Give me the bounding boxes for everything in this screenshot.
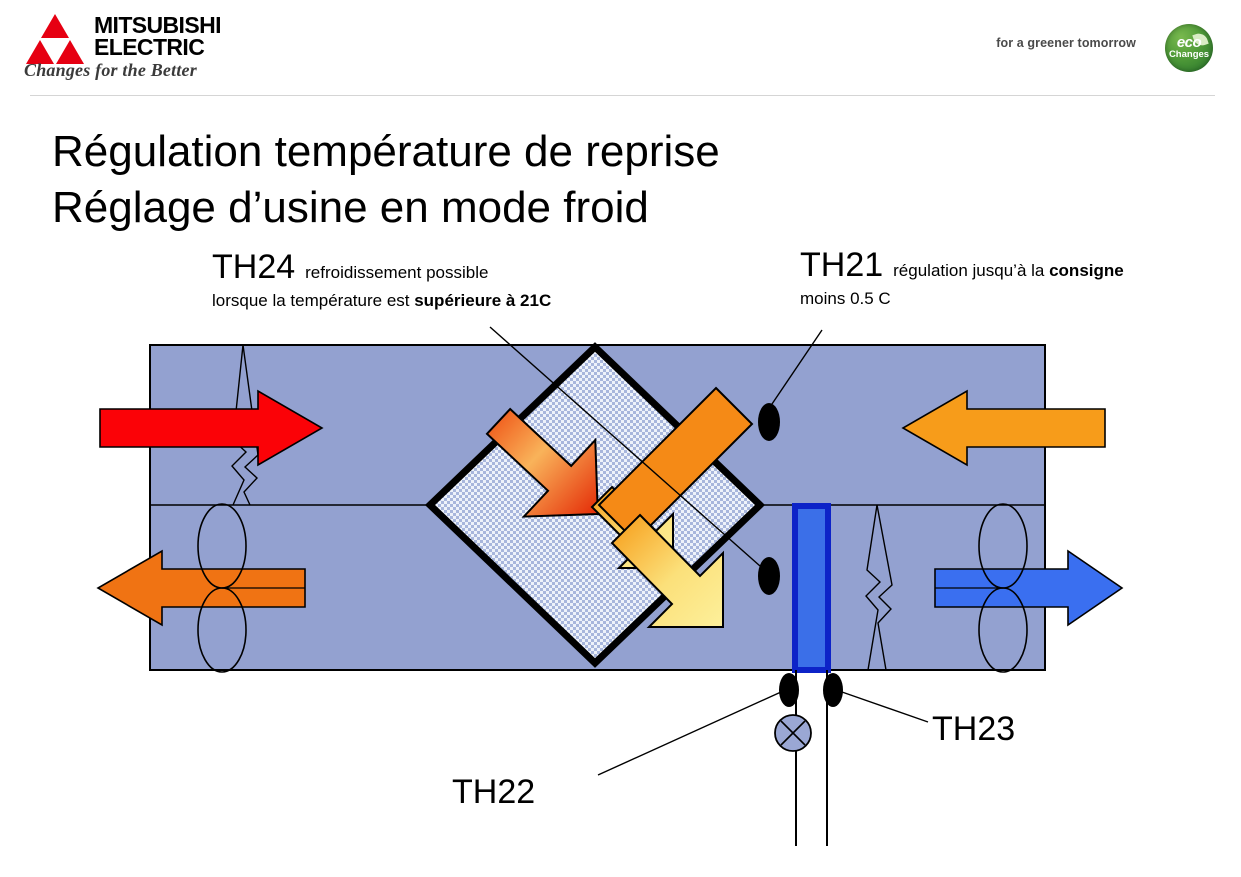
leader-th22 (598, 692, 781, 775)
sensor-th23 (823, 673, 843, 707)
hrv-unit-diagram (0, 0, 1241, 877)
leader-th23 (842, 692, 928, 722)
sensor-th21 (758, 403, 780, 441)
sensor-th22 (779, 673, 799, 707)
cooling-coil (795, 506, 828, 670)
coil-valve-icon (775, 715, 811, 751)
sensor-th24 (758, 557, 780, 595)
